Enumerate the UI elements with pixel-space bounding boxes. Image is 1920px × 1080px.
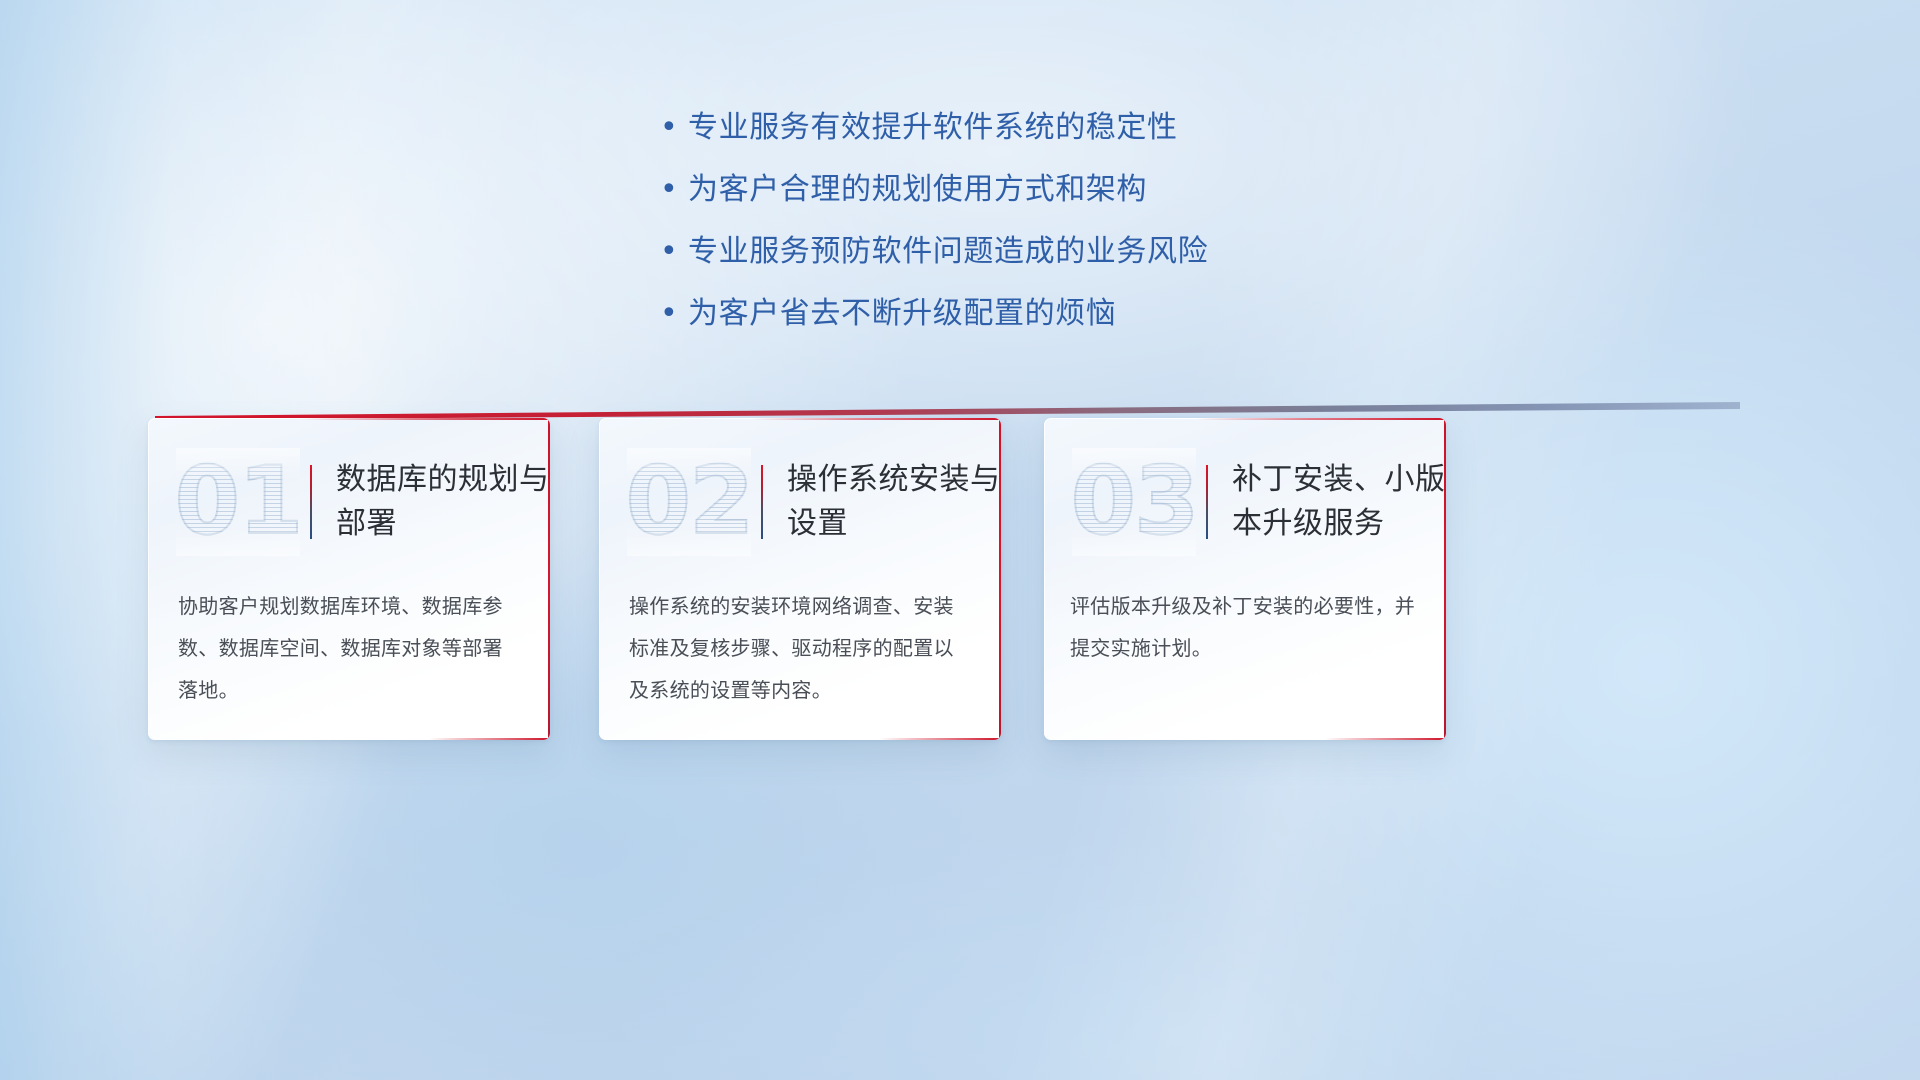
bullet-dot-icon: • xyxy=(660,170,688,210)
card-accent-bottom xyxy=(1325,738,1446,740)
bullet-item-4: • 为客户省去不断升级配置的烦恼 xyxy=(660,294,1480,334)
bullet-item-3: • 专业服务预防软件问题造成的业务风险 xyxy=(660,232,1480,272)
bullet-dot-icon: • xyxy=(660,108,688,148)
card-accent-bar xyxy=(1444,418,1446,740)
card-description: 评估版本升级及补丁安装的必要性，并提交实施计划。 xyxy=(1044,586,1446,670)
benefits-bullet-list: • 专业服务有效提升软件系统的稳定性 • 为客户合理的规划使用方式和架构 • 专… xyxy=(660,108,1480,356)
slide-canvas: • 专业服务有效提升软件系统的稳定性 • 为客户合理的规划使用方式和架构 • 专… xyxy=(0,0,1920,1080)
bullet-dot-icon: • xyxy=(660,294,688,334)
card-accent-bar xyxy=(999,418,1001,740)
card-accent-top xyxy=(301,418,550,420)
card-title: 数据库的规划与部署 xyxy=(336,458,550,546)
card-header: 02 操作系统安装与设置 xyxy=(599,418,1001,586)
card-number-watermark: 02 xyxy=(627,448,751,556)
card-description: 操作系统的安装环境网络调查、安装标准及复核步骤、驱动程序的配置以及系统的设置等内… xyxy=(599,586,1001,712)
card-description: 协助客户规划数据库环境、数据库参数、数据库空间、数据库对象等部署落地。 xyxy=(148,586,550,712)
card-title-rule xyxy=(761,465,763,539)
card-number-watermark: 01 xyxy=(176,448,300,556)
service-card-02[interactable]: 02 操作系统安装与设置 操作系统的安装环境网络调查、安装标准及复核步骤、驱动程… xyxy=(599,418,1001,740)
card-accent-bar xyxy=(548,418,550,740)
bullet-dot-icon: • xyxy=(660,232,688,272)
card-accent-top xyxy=(752,418,1001,420)
card-number-watermark: 03 xyxy=(1072,448,1196,556)
card-accent-bottom xyxy=(880,738,1001,740)
bullet-item-label: 专业服务有效提升软件系统的稳定性 xyxy=(688,108,1178,148)
card-title-rule xyxy=(310,465,312,539)
card-number-label: 03 xyxy=(1072,455,1196,549)
bullet-item-label: 为客户合理的规划使用方式和架构 xyxy=(688,170,1147,210)
card-title-rule xyxy=(1206,465,1208,539)
service-card-group: 01 数据库的规划与部署 协助客户规划数据库环境、数据库参数、数据库空间、数据库… xyxy=(148,418,1772,1058)
card-header: 03 补丁安装、小版本升级服务 xyxy=(1044,418,1446,586)
card-number-label: 02 xyxy=(627,455,751,549)
bullet-item-2: • 为客户合理的规划使用方式和架构 xyxy=(660,170,1480,210)
bullet-item-label: 为客户省去不断升级配置的烦恼 xyxy=(688,294,1116,334)
card-accent-top xyxy=(1197,418,1446,420)
card-number-label: 01 xyxy=(176,455,300,549)
bullet-item-label: 专业服务预防软件问题造成的业务风险 xyxy=(688,232,1208,272)
service-card-03[interactable]: 03 补丁安装、小版本升级服务 评估版本升级及补丁安装的必要性，并提交实施计划。 xyxy=(1044,418,1446,740)
card-title: 补丁安装、小版本升级服务 xyxy=(1232,458,1446,546)
card-accent-bottom xyxy=(429,738,550,740)
service-card-01[interactable]: 01 数据库的规划与部署 协助客户规划数据库环境、数据库参数、数据库空间、数据库… xyxy=(148,418,550,740)
card-header: 01 数据库的规划与部署 xyxy=(148,418,550,586)
bullet-item-1: • 专业服务有效提升软件系统的稳定性 xyxy=(660,108,1480,148)
card-title: 操作系统安装与设置 xyxy=(787,458,1001,546)
